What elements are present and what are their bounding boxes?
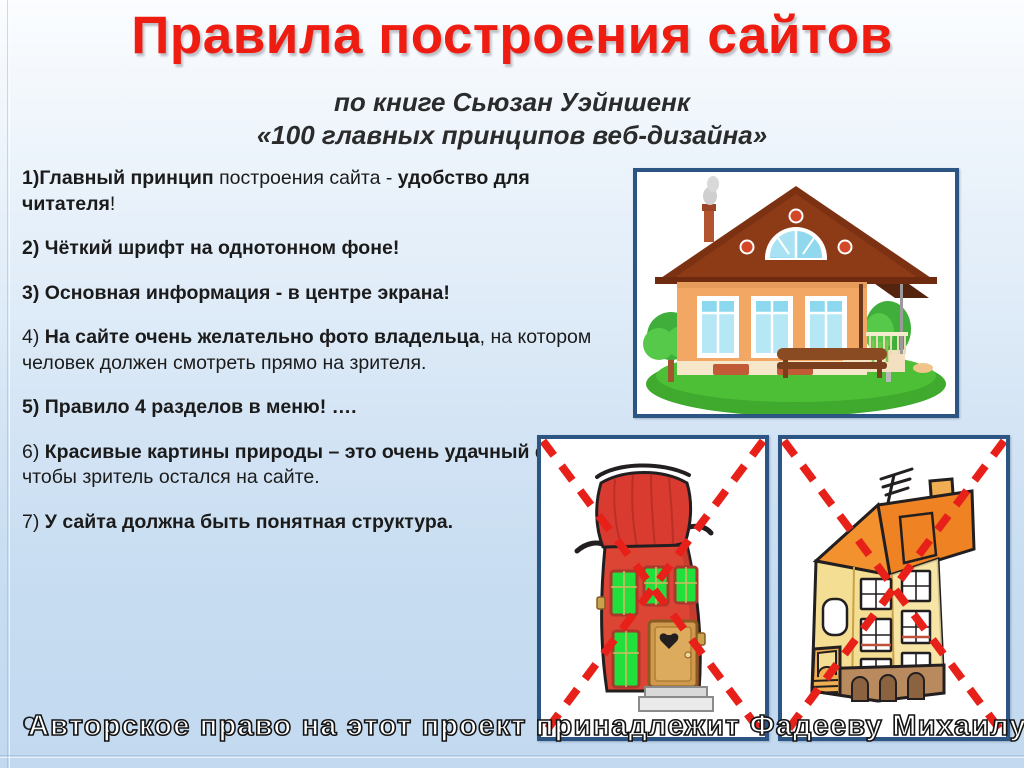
rule-7-bold-1: У сайта должна быть понятная структура: [45, 511, 448, 533]
subtitle-line-2: «100 главных принципов веб-дизайна»: [0, 119, 1024, 151]
list-item-rule-6: 6) Красивые картины природы – это очень …: [22, 440, 592, 491]
crooked-yellow-house-illustration: [782, 439, 1006, 737]
rule-4-bold-1: На сайте очень желательно фото владельца: [45, 326, 480, 348]
bad-house-1-image-frame: [537, 435, 769, 741]
subtitle-line-1: по книге Сьюзан Уэйншенк: [0, 86, 1024, 118]
bad-house-2-image-frame: [778, 435, 1010, 741]
rule-5-number: 5): [22, 396, 45, 418]
rule-2-number: 2): [22, 237, 45, 259]
rule-1-normal-2: !: [110, 193, 115, 215]
rule-4-number: 4): [22, 326, 45, 348]
slide-bottom-edge-line: [0, 755, 1024, 756]
rule-1-bold-1: Главный принцип: [39, 167, 213, 189]
rule-2-bold-1: Чёткий шрифт на однотонном фоне!: [45, 237, 400, 259]
rule-6-bold-1: Красивые картины природы – это очень уда…: [45, 441, 576, 463]
copyright-watermark: Авторское право на этот проект принадлеж…: [28, 709, 1008, 743]
list-item-rule-1: 1)Главный принцип построения сайта - удо…: [22, 166, 592, 217]
good-house-illustration: [637, 172, 955, 414]
rule-7-normal-1: .: [448, 511, 453, 533]
list-item-rule-5: 5) Правило 4 разделов в меню! ….: [22, 395, 592, 421]
list-item-rule-7: 7) У сайта должна быть понятная структур…: [22, 510, 592, 536]
rule-3-bold-1: Основная информация - в центре экрана!: [45, 282, 450, 304]
rule-3-number: 3): [22, 282, 45, 304]
page-title: Правила построения сайтов: [0, 6, 1024, 66]
rule-6-number: 6): [22, 441, 45, 463]
rule-1-number: 1): [22, 167, 39, 189]
rule-5-bold-1: Правило 4 разделов в меню! ….: [45, 396, 357, 418]
rule-1-normal-1: построения сайта -: [214, 167, 398, 189]
slide-canvas: Правила построения сайтов по книге Сьюза…: [0, 0, 1024, 768]
good-house-image-frame: [633, 168, 959, 418]
rule-7-number: 7): [22, 511, 45, 533]
list-item-rule-2: 2) Чёткий шрифт на однотонном фоне!: [22, 236, 592, 262]
list-item-rule-4: 4) На сайте очень желательно фото владел…: [22, 325, 592, 376]
slide-bottom-edge-highlight: [0, 757, 1024, 758]
list-item-rule-3: 3) Основная информация - в центре экрана…: [22, 281, 592, 307]
crooked-red-house-illustration: [541, 439, 765, 737]
rules-list: 1)Главный принцип построения сайта - удо…: [22, 166, 592, 535]
